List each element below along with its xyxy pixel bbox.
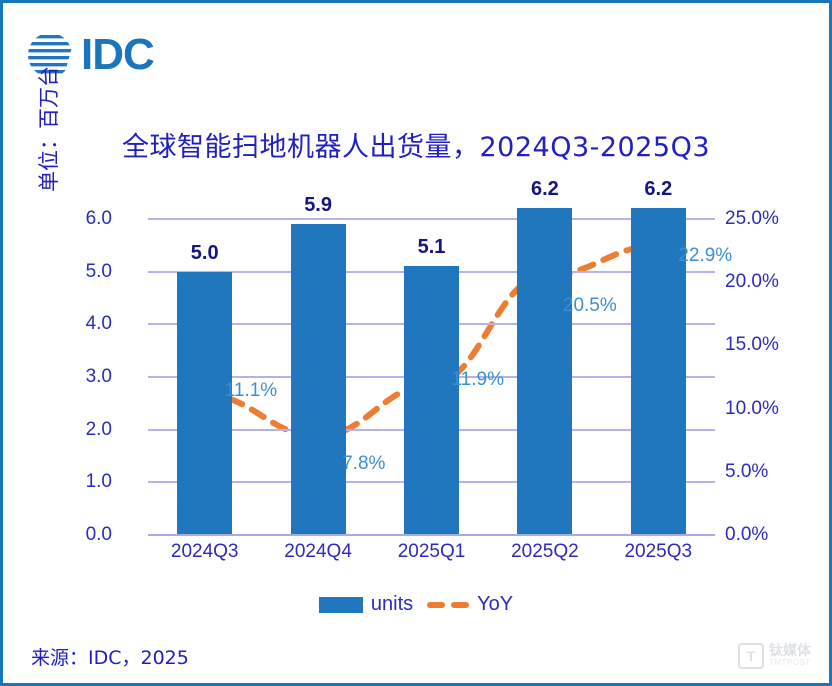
y-axis-tick: 5.0 (86, 261, 112, 283)
bar-value-label: 6.2 (644, 178, 672, 201)
yoy-value-label: 11.1% (225, 380, 277, 402)
chart-title: 全球智能扫地机器人出货量，2024Q3-2025Q3 (3, 125, 829, 164)
y2-axis-tick: 10.0% (725, 398, 779, 420)
x-axis-tick-2025Q2: 2025Q2 (511, 541, 579, 563)
bar-2024Q4[interactable] (291, 224, 346, 535)
legend-label: units (371, 593, 413, 616)
watermark-name-en: TMTPOST (769, 659, 811, 667)
y-axis-tick: 0.0 (86, 524, 112, 546)
bar-value-label: 6.2 (531, 178, 559, 201)
y2-axis-tick: 5.0% (725, 461, 768, 483)
yoy-value-label: 7.8% (342, 453, 385, 475)
y-axis-tick: 1.0 (86, 471, 112, 493)
x-axis-tick-2024Q4: 2024Q4 (284, 541, 352, 563)
x-axis-tick-2025Q3: 2025Q3 (624, 541, 692, 563)
y2-axis-tick: 0.0% (725, 524, 768, 546)
legend-swatch-bar-icon (319, 597, 363, 613)
bar-value-label: 5.0 (191, 242, 219, 265)
legend-item-YoY[interactable]: YoY (427, 593, 513, 616)
chart-body: 5.05.95.16.26.211.1%7.8%11.9%20.5%22.9% … (3, 173, 829, 573)
y2-axis-tick: 20.0% (725, 271, 779, 293)
tmtpost-logo-icon: T (738, 643, 764, 669)
legend-swatch-dashed-line-icon (427, 602, 469, 608)
watermark-name-cn: 钛媒体 (769, 644, 811, 659)
y-axis-tick: 3.0 (86, 366, 112, 388)
yoy-value-label: 11.9% (452, 369, 504, 391)
bar-2025Q1[interactable] (404, 266, 459, 535)
plot-area: 5.05.95.16.26.211.1%7.8%11.9%20.5%22.9% (148, 219, 715, 535)
source-note: 来源：IDC，2025 (31, 643, 189, 670)
x-axis-tick-2024Q3: 2024Q3 (171, 541, 239, 563)
bar-value-label: 5.9 (304, 194, 332, 217)
bar-2024Q3[interactable] (177, 272, 232, 535)
idc-wordmark: IDC (81, 33, 154, 77)
y2-axis-tick: 15.0% (725, 334, 779, 356)
bar-2025Q2[interactable] (517, 208, 572, 535)
chart-page: IDC 全球智能扫地机器人出货量，2024Q3-2025Q3 单位：百万台 5.… (0, 0, 832, 686)
axis-baseline (148, 534, 715, 536)
bar-value-label: 5.1 (418, 236, 446, 259)
y-axis-tick: 4.0 (86, 313, 112, 335)
watermark: T 钛媒体 TMTPOST (738, 643, 811, 669)
y2-axis-tick: 25.0% (725, 208, 779, 230)
y-axis-tick: 6.0 (86, 208, 112, 230)
chart-legend: unitsYoY (3, 593, 829, 616)
legend-label: YoY (477, 593, 513, 616)
yoy-value-label: 20.5% (563, 295, 617, 317)
x-axis-tick-2025Q1: 2025Q1 (398, 541, 466, 563)
legend-item-units[interactable]: units (319, 593, 413, 616)
y-axis-tick: 2.0 (86, 419, 112, 441)
yoy-value-label: 22.9% (678, 245, 732, 267)
